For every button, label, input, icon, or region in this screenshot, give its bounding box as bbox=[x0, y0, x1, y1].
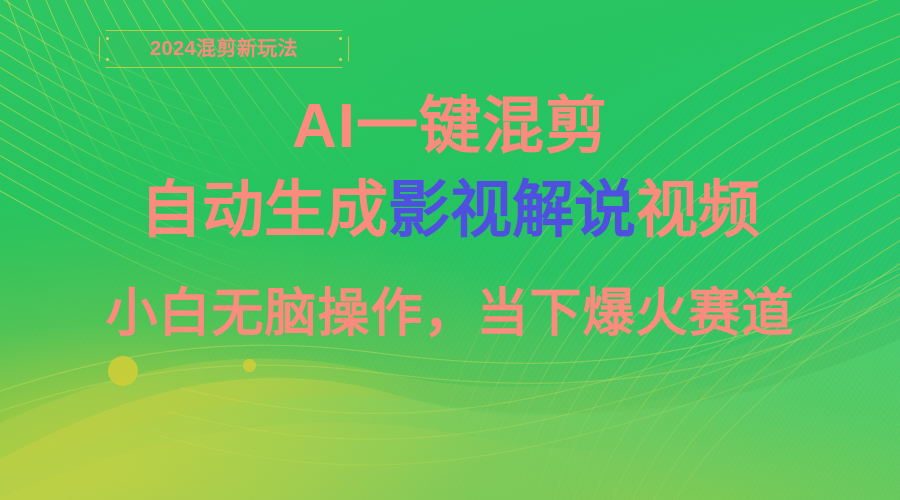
badge-corner-dot-top-left-icon bbox=[106, 37, 109, 40]
badge-corner-dot-top-right-icon bbox=[339, 37, 342, 40]
headline-line-2-part-1: 自动生成 bbox=[140, 176, 388, 245]
headline-line-2-part-3: 视频 bbox=[636, 176, 760, 245]
badge-corner-dot-bottom-right-icon bbox=[339, 58, 342, 61]
wave-mesh-pattern-icon bbox=[0, 0, 900, 500]
headline-line-1: AI一键混剪 bbox=[0, 96, 900, 158]
headline-line-2: 自动生成影视解说视频 bbox=[0, 180, 900, 242]
wave-texture-overlay-icon bbox=[0, 0, 900, 500]
yellow-circle-large-icon bbox=[108, 356, 138, 386]
flowing-wave-bands-icon bbox=[0, 0, 900, 500]
diagonal-texture-icon bbox=[0, 0, 900, 500]
headline-block: AI一键混剪 自动生成影视解说视频 bbox=[0, 96, 900, 242]
yellow-circle-small-icon bbox=[243, 359, 256, 372]
headline-line-3: 小白无脑操作，当下爆火赛道 bbox=[0, 288, 900, 340]
badge-corner-dot-bottom-left-icon bbox=[106, 58, 109, 61]
flowing-line-pattern-top-icon bbox=[0, 0, 900, 500]
year-tag-badge: 2024混剪新玩法 bbox=[99, 30, 349, 68]
badge-label: 2024混剪新玩法 bbox=[150, 39, 298, 59]
headline-line-2-highlight: 影视解说 bbox=[388, 176, 636, 245]
background-gradient bbox=[0, 0, 900, 500]
promo-poster: 2024混剪新玩法 AI一键混剪 自动生成影视解说视频 小白无脑操作，当下爆火赛… bbox=[0, 0, 900, 500]
